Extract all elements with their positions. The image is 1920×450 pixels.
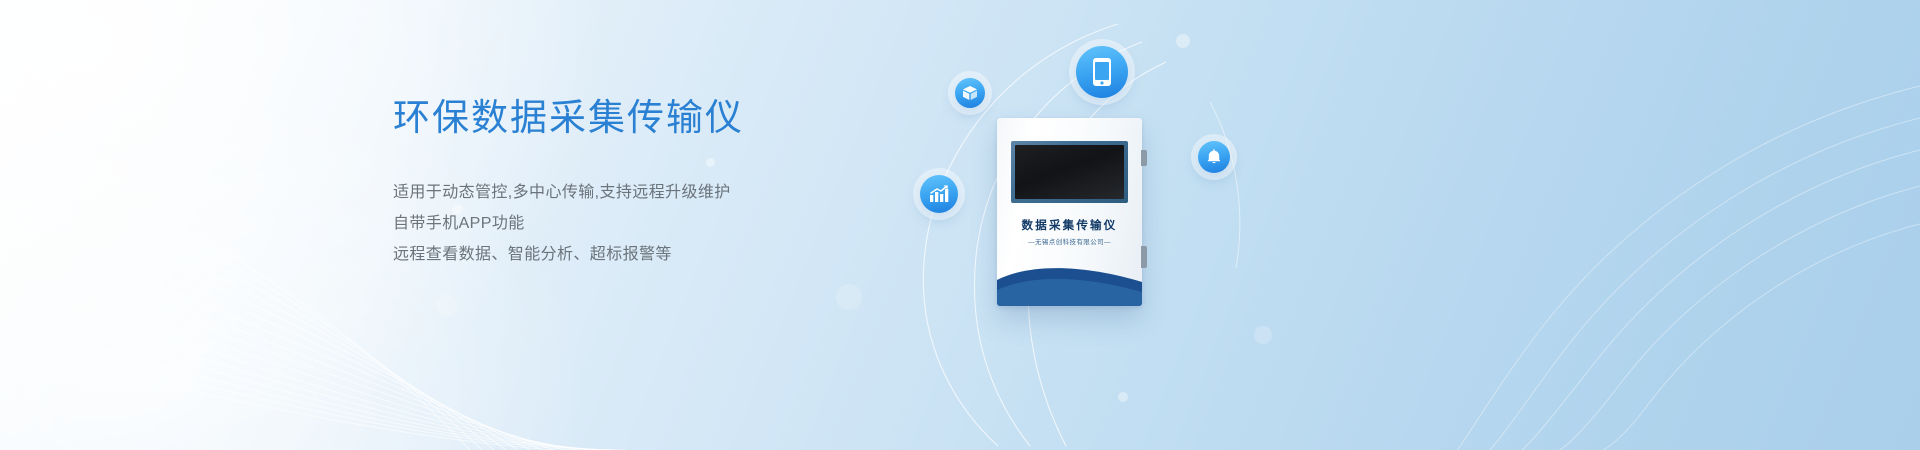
hero-copy: 环保数据采集传输仪 适用于动态管控,多中心传输,支持远程升级维护 自带手机APP… xyxy=(393,95,863,270)
package-box-icon[interactable] xyxy=(955,78,985,108)
device-bottom-wave xyxy=(997,260,1142,306)
device-side-tab xyxy=(1141,246,1147,268)
bokeh-dot xyxy=(436,294,458,316)
bar-chart-growth-icon[interactable] xyxy=(920,175,958,213)
feature-item: 自带手机APP功能 xyxy=(393,208,863,239)
alarm-bell-icon[interactable] xyxy=(1198,141,1230,173)
bokeh-dot xyxy=(66,62,82,78)
data-logger-device: 数据采集传输仪 —无锡点创科技有限公司— xyxy=(997,118,1142,306)
device-name-label: 数据采集传输仪 xyxy=(997,217,1142,233)
page-title: 环保数据采集传输仪 xyxy=(393,95,863,141)
feature-list: 适用于动态管控,多中心传输,支持远程升级维护 自带手机APP功能 远程查看数据、… xyxy=(393,177,863,270)
feature-item: 适用于动态管控,多中心传输,支持远程升级维护 xyxy=(393,177,863,208)
device-side-tab xyxy=(1141,150,1147,166)
product-hero-banner: 环保数据采集传输仪 适用于动态管控,多中心传输,支持远程升级维护 自带手机APP… xyxy=(0,0,1920,450)
product-illustration: 数据采集传输仪 —无锡点创科技有限公司— xyxy=(880,0,1300,450)
feature-item: 远程查看数据、智能分析、超标报警等 xyxy=(393,239,863,270)
device-company-label: —无锡点创科技有限公司— xyxy=(997,236,1142,246)
mobile-phone-icon[interactable] xyxy=(1076,46,1128,98)
bokeh-dot xyxy=(836,284,862,310)
device-screen-glass xyxy=(1015,145,1124,199)
device-screen xyxy=(1011,141,1128,203)
